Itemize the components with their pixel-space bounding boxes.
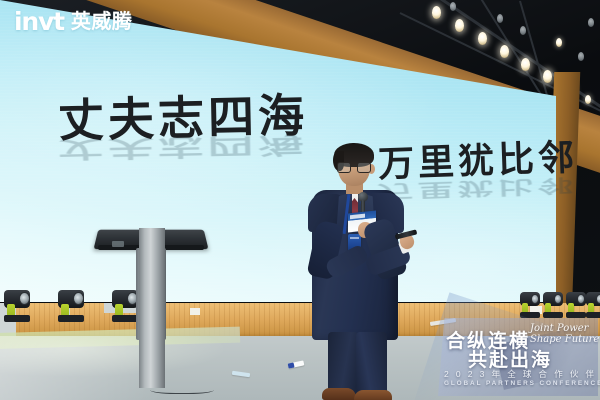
light-base: [4, 315, 30, 322]
lectern-monitor-icon: [112, 241, 124, 247]
invt-chinese-name: 英威腾: [71, 12, 133, 32]
stage-light-fixture: [4, 290, 30, 322]
ceiling-spotlight-icon: [543, 70, 552, 83]
light-lens-icon: [19, 292, 30, 305]
foreground-pillar: [139, 228, 165, 388]
ceiling-spotlight-icon: [478, 32, 487, 45]
stage-light-fixture: [520, 292, 540, 318]
conference-branding-overlay: 合纵连横 共赴出海 Joint PowerShape Future 2 0 2 …: [438, 318, 598, 396]
invt-wordmark: invt: [14, 9, 64, 34]
speaker-shoe-right: [354, 390, 392, 400]
ceiling-spotlight-icon: [455, 19, 464, 32]
light-lens-icon: [531, 294, 539, 304]
ceiling-spotlight-icon: [521, 58, 530, 71]
calligraphy-line1: 丈夫志四海: [57, 79, 308, 150]
ceiling-spotlight-icon: [450, 2, 456, 11]
stage-light-fixture: [543, 292, 563, 318]
ceiling-spotlight-icon: [585, 95, 591, 104]
branding-script-line1: Joint Power: [530, 323, 588, 334]
glasses-lens-right: [357, 162, 371, 173]
glasses-lens-left: [337, 162, 351, 173]
speaker-shoe-left: [322, 388, 356, 400]
light-lens-icon: [554, 294, 562, 304]
ceiling-spotlight-icon: [578, 52, 584, 61]
speaker-figure: [300, 146, 412, 400]
branding-subtitle-english: GLOBAL PARTNERS CONFERENCE 2023: [444, 380, 600, 387]
ceiling-spotlight-icon: [432, 6, 441, 19]
light-base: [58, 315, 84, 322]
ceiling-spotlight-icon: [556, 38, 562, 47]
branding-script-tagline: Joint PowerShape Future: [530, 323, 599, 345]
ceiling-spotlight-icon: [497, 14, 503, 23]
ceiling-spotlight-icon: [500, 45, 509, 58]
ceiling-spotlight-icon: [588, 18, 594, 27]
light-lens-icon: [73, 292, 84, 305]
stage-light-fixture: [566, 292, 586, 318]
light-lens-icon: [577, 294, 585, 304]
ceiling-spotlight-icon: [520, 26, 526, 35]
stage-scene: invt 英威腾 丈夫志四海 万里犹比邻 丈夫志四海 万里犹比邻: [0, 0, 600, 400]
invt-logo: invt 英威腾: [14, 9, 132, 34]
glasses-bridge: [351, 166, 357, 167]
eyeglasses-icon: [337, 162, 372, 173]
stage-light-fixture: [58, 290, 84, 322]
branding-subtitle-chinese: 2 0 2 3 年 全 球 合 作 伙 伴 大 会: [444, 368, 600, 380]
branding-script-line2: Shape Future: [530, 334, 599, 345]
stage-light-fixture: [586, 292, 600, 318]
light-lens-icon: [596, 294, 600, 304]
